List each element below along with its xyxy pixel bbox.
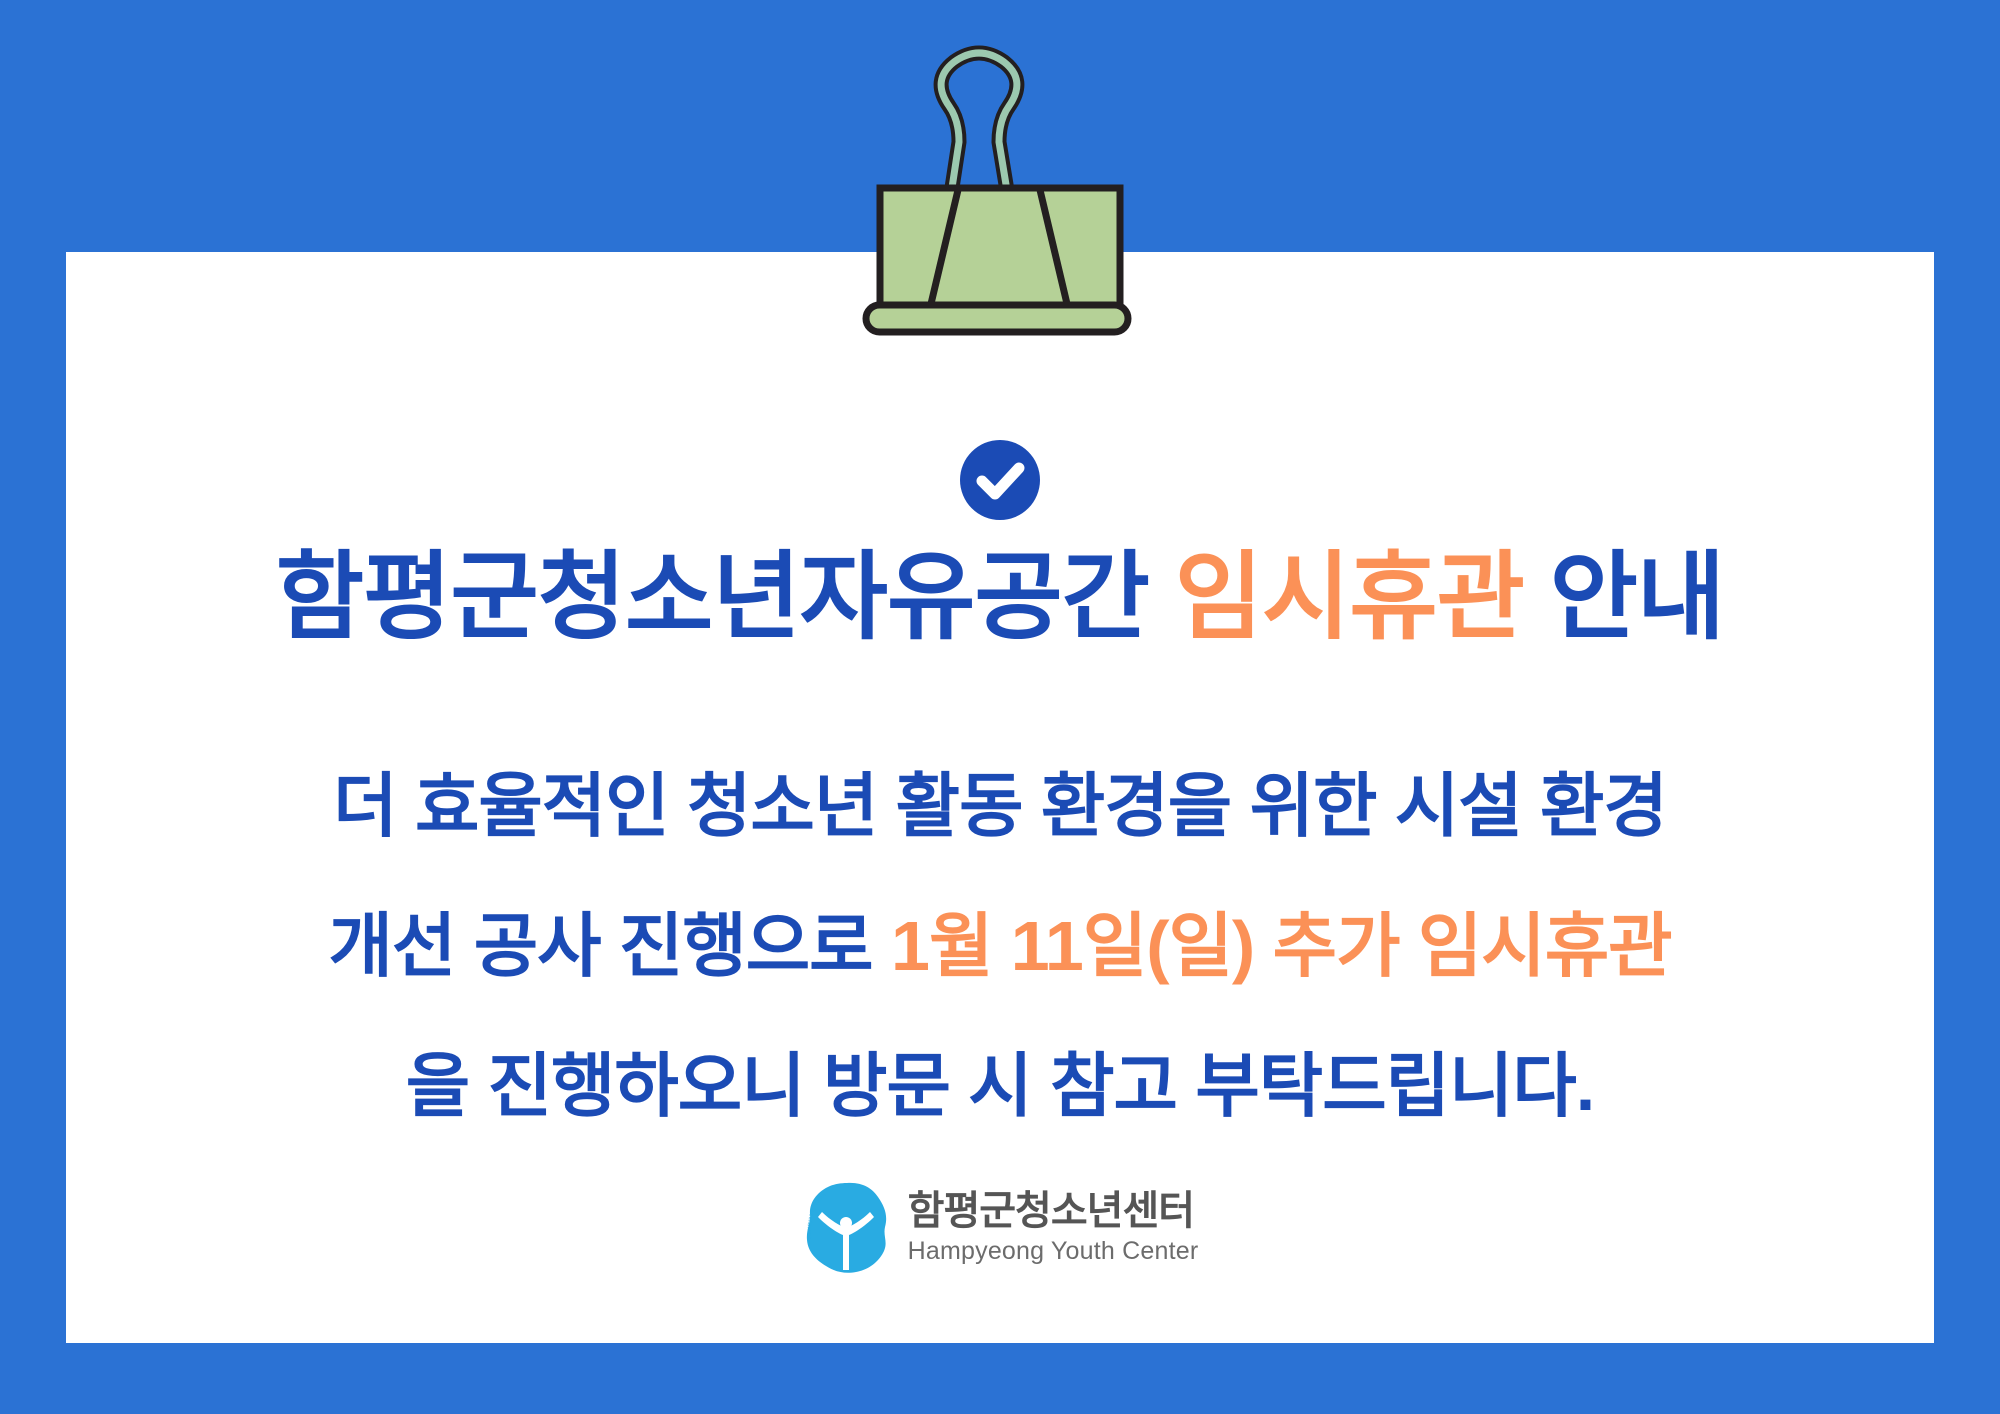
logo-name-korean: 함평군청소년센터 [908,1188,1199,1234]
logo-text-block: 함평군청소년센터 Hampyeong Youth Center [908,1188,1199,1267]
body-line-2-accent: 1월 11일(일) 추가 임시휴관 [891,907,1672,985]
footer-logo: Hampyeong Youth Center 함평군청소년센터 Hampyeon… [0,1180,2000,1276]
body-line-3: 을 진행하오니 방문 시 참고 부탁드립니다. [130,1016,1870,1156]
hampyeong-youth-center-logo-icon: Hampyeong Youth Center [802,1180,894,1276]
page-title: 함평군청소년자유공간 임시휴관 안내 [0,548,2000,649]
check-circle-icon [952,432,1048,528]
logo-name-english: Hampyeong Youth Center [908,1236,1199,1267]
headline-accent: 임시휴관 [1175,544,1524,651]
body-line-2: 개선 공사 진행으로 1월 11일(일) 추가 임시휴관 [130,876,1870,1016]
headline-part-2: 안내 [1524,544,1724,651]
body-line-2-pre: 개선 공사 진행으로 [328,907,891,985]
binder-clip-icon [840,40,1140,340]
body-line-1: 더 효율적인 청소년 활동 환경을 위한 시설 환경 [130,736,1870,876]
poster-root: 함평군청소년자유공간 임시휴관 안내 더 효율적인 청소년 활동 환경을 위한 … [0,0,2000,1414]
body-copy: 더 효율적인 청소년 활동 환경을 위한 시설 환경 개선 공사 진행으로 1월… [130,736,1870,1156]
headline-part-1: 함평군청소년자유공간 [276,544,1175,651]
